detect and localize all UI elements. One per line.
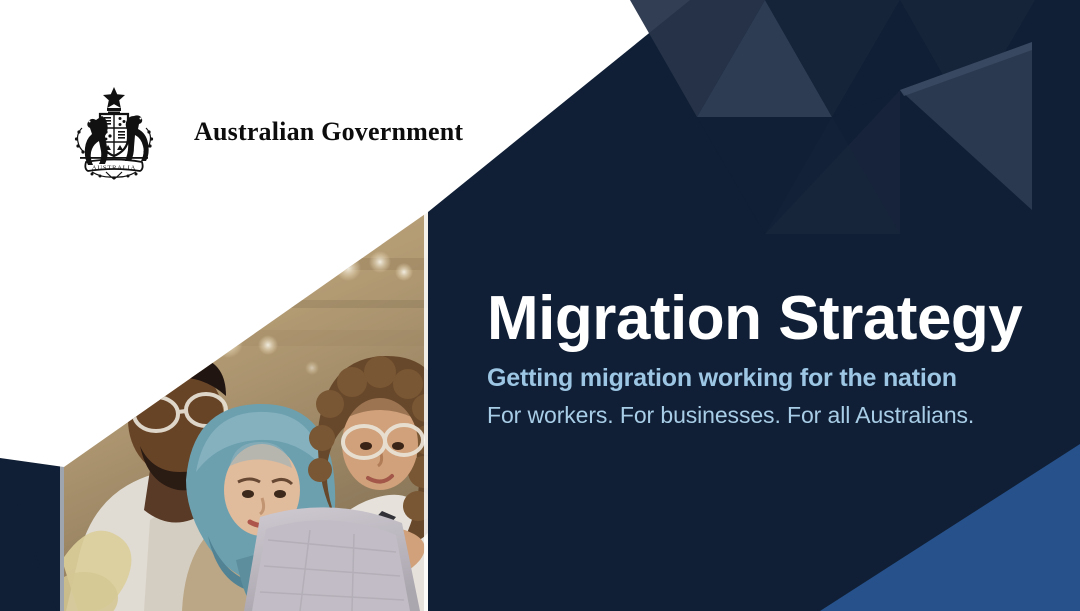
photo-edge-left-highlight bbox=[60, 464, 64, 611]
page-subtitle: Getting migration working for the nation bbox=[487, 354, 1047, 393]
cover-title-block: Migration Strategy Getting migration wor… bbox=[487, 284, 1047, 429]
svg-text:AUSTRALIA: AUSTRALIA bbox=[92, 165, 136, 172]
photo-edge-highlight bbox=[424, 212, 428, 611]
page-tagline: For workers. For businesses. For all Aus… bbox=[487, 393, 1047, 429]
australian-government-logo: AUSTRALIA Australi bbox=[62, 84, 463, 180]
cover-page: AUSTRALIA Australi bbox=[0, 0, 1080, 611]
australian-government-wordmark: Australian Government bbox=[194, 117, 463, 147]
page-title: Migration Strategy bbox=[487, 284, 1047, 354]
commonwealth-coat-of-arms-icon: AUSTRALIA bbox=[62, 84, 166, 180]
